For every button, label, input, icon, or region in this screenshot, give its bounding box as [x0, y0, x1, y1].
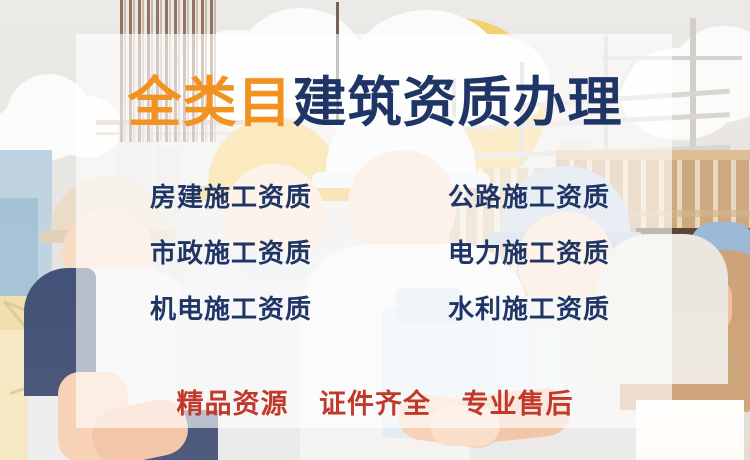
service-item-dianli[interactable]: 电力施工资质	[400, 236, 610, 270]
banner-content: 全类目建筑资质办理 房建施工资质 公路施工资质 市政施工资质 电力施工资质 机电…	[0, 0, 750, 460]
service-row: 市政施工资质 电力施工资质	[150, 236, 610, 270]
service-item-shuili[interactable]: 水利施工资质	[400, 292, 610, 326]
selling-point-1: 精品资源	[176, 389, 288, 419]
service-item-fangjian[interactable]: 房建施工资质	[150, 180, 360, 214]
title-highlight: 全类目	[128, 73, 293, 133]
selling-point-3: 专业售后	[462, 389, 574, 419]
service-item-shizheng[interactable]: 市政施工资质	[150, 236, 360, 270]
service-row: 机电施工资质 水利施工资质	[150, 292, 610, 326]
service-item-gonglu[interactable]: 公路施工资质	[400, 180, 610, 214]
promo-banner: 全类目建筑资质办理 房建施工资质 公路施工资质 市政施工资质 电力施工资质 机电…	[0, 0, 750, 460]
service-item-jidian[interactable]: 机电施工资质	[150, 292, 360, 326]
service-row: 房建施工资质 公路施工资质	[150, 180, 610, 214]
page-title: 全类目建筑资质办理	[0, 76, 750, 130]
selling-points: 精品资源 证件齐全 专业售后	[0, 382, 750, 421]
selling-point-2: 证件齐全	[319, 389, 431, 419]
title-main: 建筑资质办理	[293, 73, 623, 133]
service-list: 房建施工资质 公路施工资质 市政施工资质 电力施工资质 机电施工资质 水利施工资…	[150, 180, 610, 326]
